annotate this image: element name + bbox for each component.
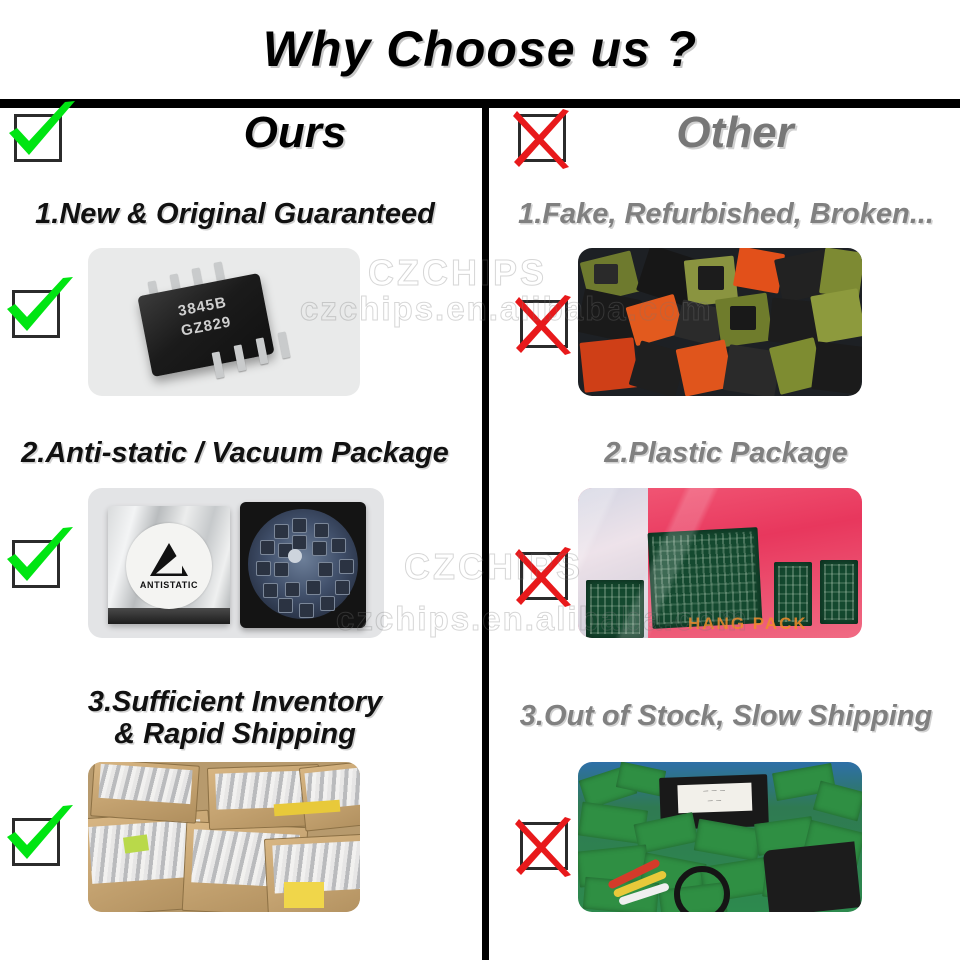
- check-mark-box-header: [14, 114, 62, 162]
- cross-mark-box-header: [518, 114, 566, 162]
- antistatic-foil-bag: ANTISTATIC: [108, 506, 230, 624]
- cross-mark-box-row-2: [520, 552, 568, 600]
- esd-warning-triangle-icon: [150, 543, 188, 576]
- horizontal-divider: [0, 99, 960, 108]
- feature-label-other-1: 1.Fake, Refurbished, Broken...: [492, 198, 960, 230]
- column-heading-ours: Ours: [130, 108, 460, 158]
- feature-label-ours-3-line1: 3.Sufficient Inventory: [88, 686, 382, 718]
- check-mark-icon: [3, 803, 79, 867]
- check-mark-box-row-3: [12, 818, 60, 866]
- cross-mark-box-row-1: [520, 300, 568, 348]
- antistatic-label-text: ANTISTATIC: [140, 580, 198, 590]
- plastic-package-watermark: HANG PACK: [688, 614, 808, 634]
- feature-label-ours-3-line2: & Rapid Shipping: [0, 718, 470, 750]
- cross-mark-box-row-3: [520, 822, 568, 870]
- photo-inventory-boxes: [88, 762, 360, 912]
- check-mark-icon: [5, 99, 81, 163]
- cross-mark-icon: [511, 107, 577, 173]
- photo-scrap-chips-pile: [578, 248, 862, 396]
- photo-scrap-pcb-pile: — — —— —: [578, 762, 862, 912]
- photo-antistatic-vacuum-package: ANTISTATIC: [88, 488, 384, 638]
- photo-new-original-chip: 3845B GZ829: [88, 248, 360, 396]
- photo-plastic-package: HANG PACK: [578, 488, 862, 638]
- check-mark-box-row-1: [12, 290, 60, 338]
- antistatic-label: ANTISTATIC: [126, 523, 212, 609]
- why-choose-us-infographic: Why Choose us ? Ours Other 1.New & Origi…: [0, 0, 960, 960]
- page-title: Why Choose us ?: [0, 20, 960, 78]
- cross-mark-icon: [513, 815, 579, 881]
- vertical-divider: [482, 104, 489, 960]
- feature-label-other-2: 2.Plastic Package: [492, 437, 960, 469]
- feature-label-ours-2: 2.Anti-static / Vacuum Package: [0, 437, 470, 469]
- cross-mark-icon: [513, 293, 579, 359]
- feature-label-other-3: 3.Out of Stock, Slow Shipping: [492, 700, 960, 732]
- column-heading-other: Other: [560, 108, 910, 158]
- watermark-brand-top: CZCHIPS: [368, 252, 547, 294]
- check-mark-icon: [3, 275, 79, 339]
- component-reel-tray: [240, 502, 366, 628]
- feature-label-ours-3: 3.Sufficient Inventory & Rapid Shipping: [0, 686, 470, 751]
- feature-label-ours-1: 1.New & Original Guaranteed: [0, 198, 470, 230]
- check-mark-icon: [3, 525, 79, 589]
- check-mark-box-row-2: [12, 540, 60, 588]
- cross-mark-icon: [513, 545, 579, 611]
